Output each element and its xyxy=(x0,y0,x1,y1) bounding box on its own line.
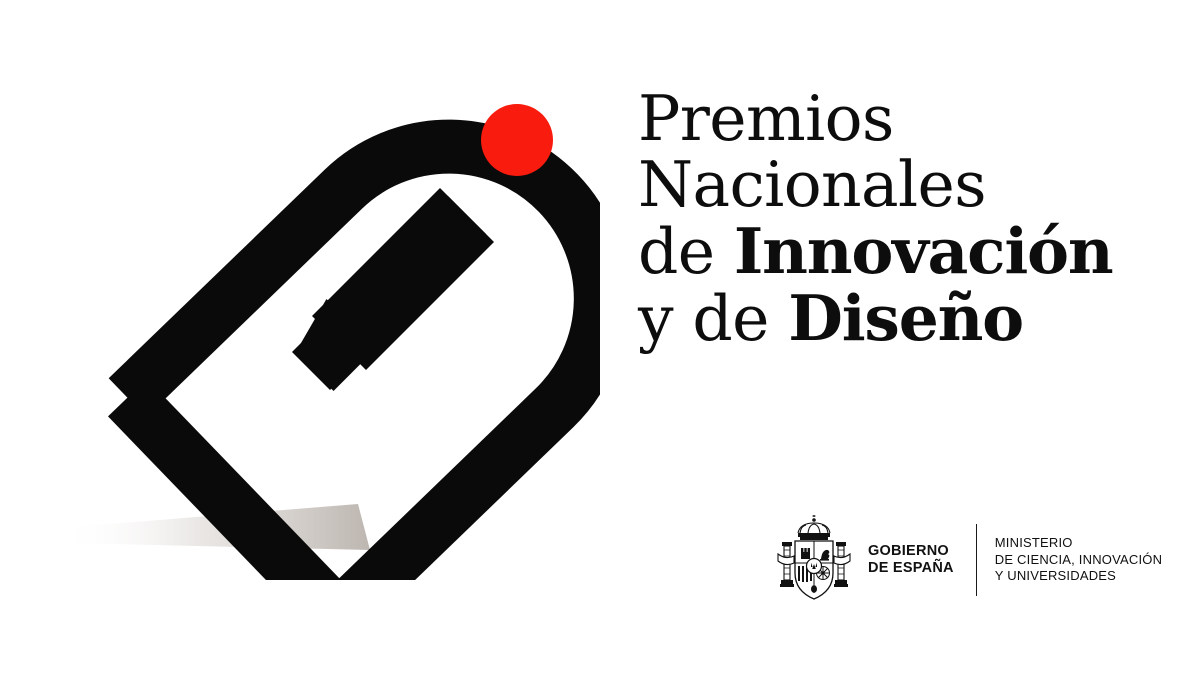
title-line-4-light: y de xyxy=(638,282,788,355)
ministry-line-1: MINISTERIO xyxy=(995,535,1162,552)
title-line-2: Nacionales xyxy=(638,152,1158,218)
ministerio-label: MINISTERIO DE CIENCIA, INNOVACIÓN Y UNIV… xyxy=(995,535,1162,585)
government-lockup: GOBIERNO DE ESPAÑA MINISTERIO DE CIENCIA… xyxy=(776,512,1162,608)
page-title: Premios Nacionales de Innovación y de Di… xyxy=(638,86,1158,352)
title-line-4: y de Diseño xyxy=(638,285,1158,352)
title-line-4-bold: Diseño xyxy=(788,281,1023,355)
gov-name-line-2: DE ESPAÑA xyxy=(868,560,954,577)
title-line-3-bold: Innovación xyxy=(734,214,1113,288)
ministry-line-3: Y UNIVERSIDADES xyxy=(995,568,1162,585)
emblem-red-dot xyxy=(481,104,553,176)
spanish-coat-of-arms-icon xyxy=(776,514,852,606)
gobierno-de-espana-label: GOBIERNO DE ESPAÑA xyxy=(868,543,954,577)
title-line-1: Premios xyxy=(638,86,1158,152)
lockup-divider xyxy=(976,524,977,596)
poster-canvas: Premios Nacionales de Innovación y de Di… xyxy=(0,0,1200,675)
gov-name-line-1: GOBIERNO xyxy=(868,543,954,560)
premios-emblem xyxy=(60,80,600,580)
title-line-3-light: de xyxy=(638,215,734,288)
title-line-3: de Innovación xyxy=(638,218,1158,285)
ministry-line-2: DE CIENCIA, INNOVACIÓN xyxy=(995,552,1162,569)
